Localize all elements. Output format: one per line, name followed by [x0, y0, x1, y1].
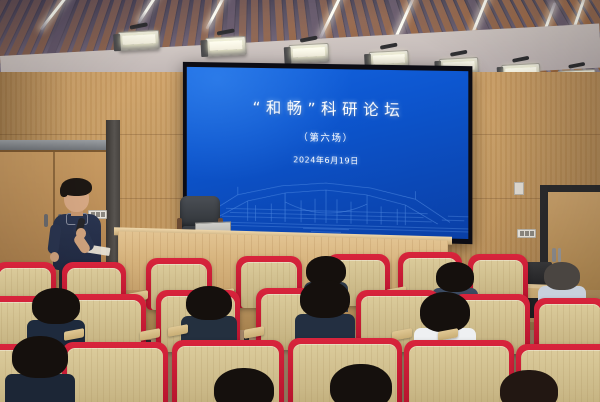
audience-member-3-head	[32, 288, 80, 324]
presenter-hair	[61, 178, 92, 196]
stage-spotlight	[289, 43, 330, 64]
presenter-left-hand	[50, 252, 59, 262]
spotlight-body	[289, 43, 330, 64]
presenter-right-hand	[76, 228, 86, 239]
audience-member-front-c-head	[500, 370, 558, 402]
spotlight-bracket	[284, 47, 292, 64]
audience-member-front-b-head	[330, 364, 392, 402]
audience-member-2-body	[5, 374, 75, 402]
wall-switch[interactable]	[514, 182, 524, 195]
slide-subtitle: （第六场）	[298, 129, 353, 144]
led-screen-frame: “和畅”科研论坛 （第六场） 2024年6月19日	[183, 62, 473, 244]
audience-member-7-head	[420, 292, 470, 332]
lecture-hall-photo: “和畅”科研论坛 （第六场） 2024年6月19日	[0, 0, 600, 402]
auditorium-seat[interactable]	[404, 340, 514, 402]
spotlight-lens	[373, 54, 405, 64]
stage-spotlight	[205, 36, 246, 57]
slide-date: 2024年6月19日	[293, 154, 359, 166]
spotlight-body	[205, 36, 246, 57]
audience-member-5-head	[436, 262, 474, 292]
auditorium-seat[interactable]	[62, 342, 168, 402]
seat-back-pad	[409, 346, 509, 402]
wall-outlet[interactable]	[517, 229, 536, 238]
audience-member-2-head	[12, 336, 68, 378]
spotlight-bracket	[113, 34, 121, 51]
audience-member-front-a-head	[214, 368, 274, 402]
seat-back-pad	[67, 348, 163, 402]
audience-member-8-head	[544, 262, 580, 290]
audience-member-1-head	[186, 286, 232, 320]
spotlight-lens	[209, 40, 242, 51]
slide-title: “和畅”科研论坛	[248, 96, 406, 121]
spotlight-lens	[293, 47, 326, 57]
stage-spotlight	[118, 30, 160, 51]
spotlight-lens	[122, 34, 155, 45]
spotlight-body	[118, 30, 160, 51]
spotlight-bracket	[200, 40, 208, 57]
led-screen: “和畅”科研论坛 （第六场） 2024年6月19日	[187, 67, 469, 239]
audience-member-4-head	[300, 280, 350, 318]
